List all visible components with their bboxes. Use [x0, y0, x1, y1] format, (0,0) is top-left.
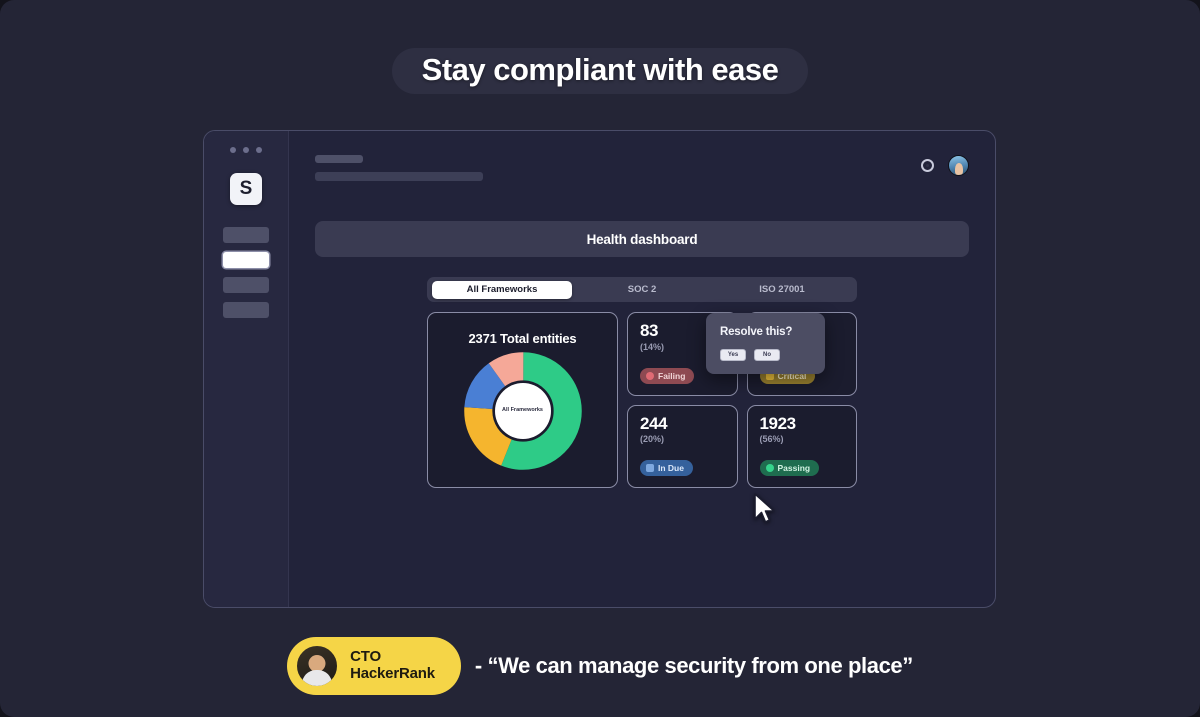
skeleton-line-short — [315, 155, 363, 163]
badge-label: Passing — [778, 463, 811, 473]
testimonial-author-text: CTO HackerRank — [350, 649, 435, 683]
donut-center-label: All Frameworks — [496, 407, 549, 414]
dashboard-header: Health dashboard — [315, 221, 969, 257]
sidebar-item-1[interactable] — [223, 227, 269, 243]
status-badge-in-due: In Due — [640, 460, 693, 476]
x-circle-icon — [646, 372, 654, 380]
sidebar-item-4[interactable] — [223, 302, 269, 318]
window-controls — [230, 147, 262, 153]
donut-chart-title: 2371 Total entities — [469, 331, 577, 346]
stat-percent: (20%) — [640, 434, 737, 444]
sidebar-item-3[interactable] — [223, 277, 269, 293]
testimonial-avatar — [295, 644, 339, 688]
tab-all-frameworks[interactable]: All Frameworks — [432, 281, 572, 299]
stat-value: 1923 — [760, 415, 857, 433]
main-panel: Health dashboard All Frameworks SOC 2 IS… — [289, 131, 995, 607]
testimonial-quote: - “We can manage security from one place… — [475, 653, 913, 679]
mouse-cursor-icon — [752, 493, 778, 525]
calendar-icon — [646, 464, 654, 472]
dashboard-title: Health dashboard — [587, 232, 698, 247]
window-dot-icon — [243, 147, 249, 153]
donut-chart-card: 2371 Total entities All Frameworks — [427, 312, 618, 488]
testimonial-company: HackerRank — [350, 666, 435, 683]
topbar-actions — [921, 153, 969, 176]
stat-card-passing[interactable]: 1923 (56%) Passing — [747, 405, 858, 489]
sidebar-item-2-active[interactable] — [223, 252, 269, 268]
badge-label: In Due — [658, 463, 684, 473]
testimonial-role: CTO — [350, 649, 435, 666]
popover-actions: Yes No — [720, 349, 813, 361]
app-window: S Health dashboard — [203, 130, 996, 608]
skeleton-line-long — [315, 172, 483, 181]
popover-no-button[interactable]: No — [754, 349, 780, 361]
stat-card-in-due[interactable]: 244 (20%) In Due — [627, 405, 738, 489]
donut-chart: All Frameworks — [464, 352, 582, 470]
hero-section: Stay compliant with ease — [0, 46, 1200, 98]
testimonial: CTO HackerRank - “We can manage security… — [0, 637, 1200, 695]
tab-soc2[interactable]: SOC 2 — [572, 281, 712, 299]
stat-value: 244 — [640, 415, 737, 433]
status-badge-failing: Failing — [640, 368, 694, 384]
popover-title: Resolve this? — [720, 326, 813, 338]
check-circle-icon — [766, 464, 774, 472]
gear-icon[interactable] — [921, 159, 934, 172]
breadcrumb-skeleton — [315, 153, 483, 181]
window-dot-icon — [230, 147, 236, 153]
popover-yes-button[interactable]: Yes — [720, 349, 746, 361]
tab-iso-27001[interactable]: ISO 27001 — [712, 281, 852, 299]
donut-center: All Frameworks — [495, 383, 551, 439]
resolve-popover: Resolve this? Yes No — [706, 313, 825, 374]
topbar — [315, 153, 969, 181]
page-root: Stay compliant with ease S — [0, 0, 1200, 717]
badge-label: Failing — [658, 371, 685, 381]
testimonial-author-pill: CTO HackerRank — [287, 637, 461, 695]
status-badge-passing: Passing — [760, 460, 820, 476]
window-dot-icon — [256, 147, 262, 153]
avatar[interactable] — [948, 155, 969, 176]
framework-tabs: All Frameworks SOC 2 ISO 27001 — [427, 277, 857, 302]
stat-percent: (56%) — [760, 434, 857, 444]
page-title: Stay compliant with ease — [422, 52, 779, 87]
brand-logo[interactable]: S — [230, 173, 262, 205]
hero-highlight-pill: Stay compliant with ease — [392, 46, 809, 98]
sidebar: S — [204, 131, 289, 607]
